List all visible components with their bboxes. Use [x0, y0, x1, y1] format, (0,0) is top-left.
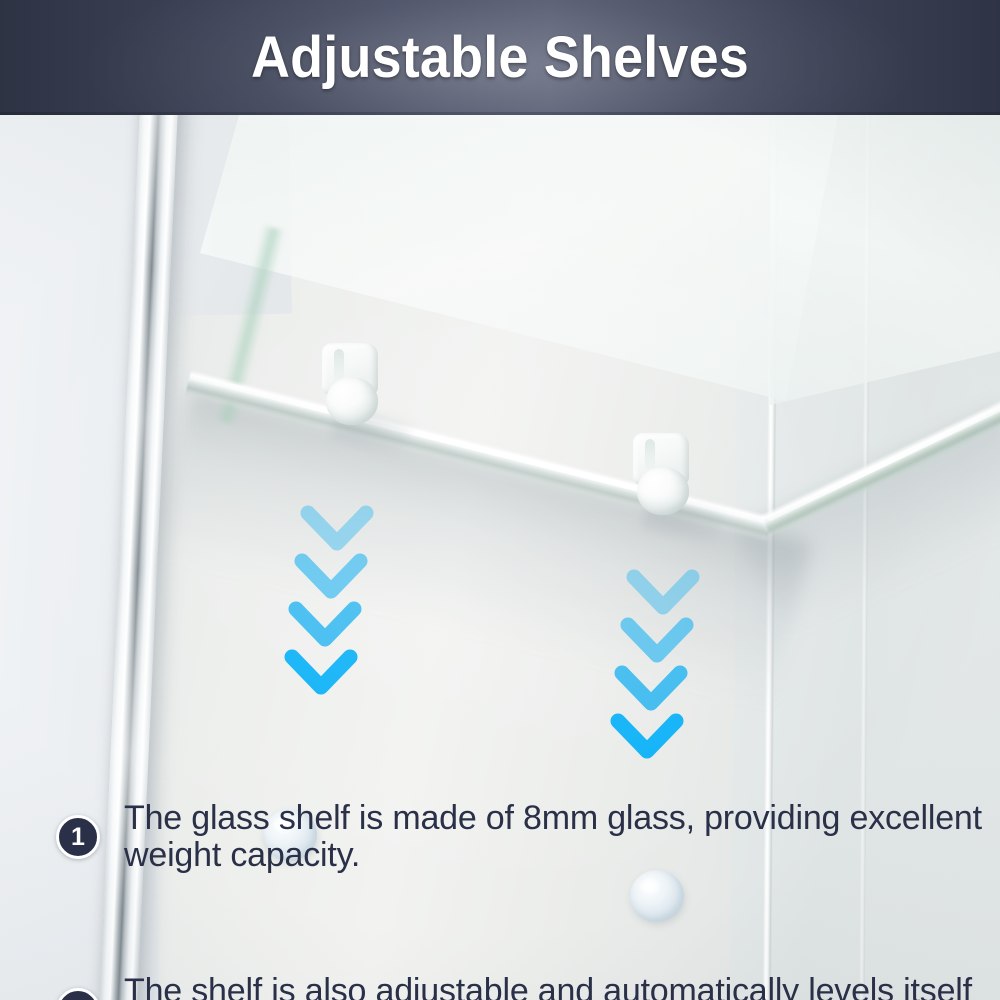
feature-callouts: 1 The glass shelf is made of 8mm glass, … — [0, 676, 1000, 806]
callout-badge-1: 1 — [56, 815, 100, 859]
shelf-clip-body — [637, 467, 689, 515]
page-title: Adjustable Shelves — [35, 0, 965, 115]
feature-callout-1: 1 The glass shelf is made of 8mm glass, … — [0, 800, 1000, 873]
shelf-clip-body — [326, 377, 378, 425]
header-banner: Adjustable Shelves — [0, 0, 1000, 115]
callout-badge-2: 2 — [56, 988, 100, 1000]
callout-text-2: The shelf is also adjustable and automat… — [124, 973, 972, 1000]
bumper-pad-right — [630, 870, 684, 922]
feature-callout-2: 2 The shelf is also adjustable and autom… — [0, 973, 1000, 1000]
infographic-canvas: Adjustable Shelves — [0, 0, 1000, 1000]
callout-text-1: The glass shelf is made of 8mm glass, pr… — [124, 800, 1000, 873]
